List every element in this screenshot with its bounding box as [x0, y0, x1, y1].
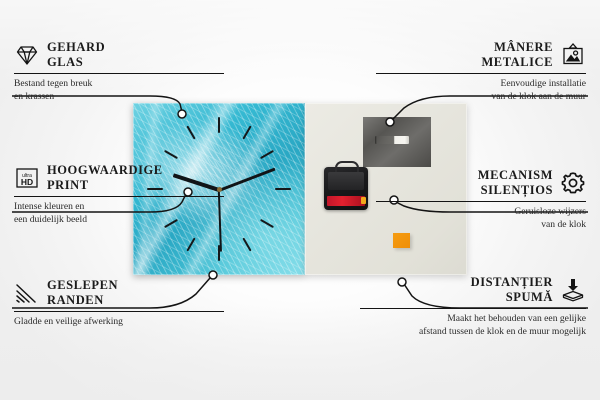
feature-manere-metalice: MÂNERE METALICE Eenvoudige installatie v… [376, 40, 586, 104]
desc-line-2: van de klok [541, 219, 586, 230]
divider [376, 201, 586, 202]
feature-title: GESLEPEN RANDEN [47, 278, 118, 308]
spacer-pad-icon [560, 277, 586, 303]
desc-line-2: en krassen [14, 91, 54, 102]
feature-distantier-spuma: DISTANȚIER SPUMĂ Maakt het behouden van … [360, 275, 586, 339]
diamond-icon [14, 42, 40, 68]
battery [327, 196, 365, 206]
desc-line-1: Gladde en veilige afwerking [14, 316, 123, 327]
title-line-1: GEHARD [47, 40, 105, 54]
gear-icon [560, 170, 586, 196]
title-line-2: PRINT [47, 178, 89, 192]
feature-header: GESLEPEN RANDEN [14, 278, 224, 308]
movement-gearbox [328, 172, 364, 190]
desc-line-1: Geruisloze wijzers [514, 206, 586, 217]
metal-hanger-icon [363, 117, 431, 167]
title-line-2: GLAS [47, 55, 83, 69]
hour-tick-12 [218, 117, 220, 133]
desc-line-2: van de klok aan de muur [491, 91, 586, 102]
movement-bail [335, 161, 359, 172]
ultra-hd-icon: ultra HD [14, 165, 40, 191]
feature-title: DISTANȚIER SPUMĂ [471, 275, 553, 305]
desc-line-1: Intense kleuren en [14, 201, 84, 212]
desc-line-1: Eenvoudige installatie [500, 78, 586, 89]
feature-description: Intense kleuren en een duidelijk beeld [14, 201, 224, 227]
hanger-slot [375, 136, 409, 144]
foam-spacer [393, 233, 410, 248]
feature-description: Eenvoudige installatie van de klok aan d… [376, 78, 586, 104]
svg-text:HD: HD [21, 177, 33, 187]
clock-movement [324, 167, 368, 210]
feature-title: MÂNERE METALICE [481, 40, 553, 70]
feature-description: Gladde en veilige afwerking [14, 316, 224, 329]
feature-geslepen-randen: GESLEPEN RANDEN Gladde en veilige afwerk… [14, 278, 224, 329]
desc-line-1: Bestand tegen breuk [14, 78, 92, 89]
title-line-2: SILENȚIOS [481, 183, 553, 197]
feature-gehard-glas: GEHARD GLAS Bestand tegen breuk en krass… [14, 40, 224, 104]
divider [14, 311, 224, 312]
feature-title: GEHARD GLAS [47, 40, 105, 70]
feature-description: Maakt het behouden van een gelijke afsta… [360, 313, 586, 339]
desc-line-2: afstand tussen de klok en de muur mogeli… [419, 326, 586, 337]
title-line-1: GESLEPEN [47, 278, 118, 292]
title-line-1: DISTANȚIER [471, 275, 553, 289]
feature-header: GEHARD GLAS [14, 40, 224, 70]
divider [360, 308, 586, 309]
desc-line-2: een duidelijk beeld [14, 214, 87, 225]
hour-tick-3 [275, 188, 291, 190]
feature-description: Bestand tegen breuk en krassen [14, 78, 224, 104]
divider [14, 196, 224, 197]
feature-header: ultra HD HOOGWAARDIGE PRINT [14, 163, 224, 193]
feature-mecanism-silentios: MECANISM SILENȚIOS Geruisloze wijzers va… [376, 168, 586, 232]
title-line-2: METALICE [481, 55, 553, 69]
feature-title: HOOGWAARDIGE PRINT [47, 163, 163, 193]
title-line-1: MECANISM [478, 168, 553, 182]
divider [376, 73, 586, 74]
feature-description: Geruisloze wijzers van de klok [376, 206, 586, 232]
beveled-edge-icon [14, 280, 40, 306]
title-line-2: SPUMĂ [506, 290, 553, 304]
feature-header: MÂNERE METALICE [376, 40, 586, 70]
feature-header: DISTANȚIER SPUMĂ [360, 275, 586, 305]
title-line-1: MÂNERE [494, 40, 553, 54]
feature-title: MECANISM SILENȚIOS [478, 168, 553, 198]
desc-line-1: Maakt het behouden van een gelijke [447, 313, 586, 324]
framed-picture-icon [560, 42, 586, 68]
infographic-canvas: GEHARD GLAS Bestand tegen breuk en krass… [0, 0, 600, 400]
title-line-1: HOOGWAARDIGE [47, 163, 163, 177]
divider [14, 73, 224, 74]
feature-header: MECANISM SILENȚIOS [376, 168, 586, 198]
feature-hoogwaardige-print: ultra HD HOOGWAARDIGE PRINT Intense kleu… [14, 163, 224, 227]
title-line-2: RANDEN [47, 293, 104, 307]
